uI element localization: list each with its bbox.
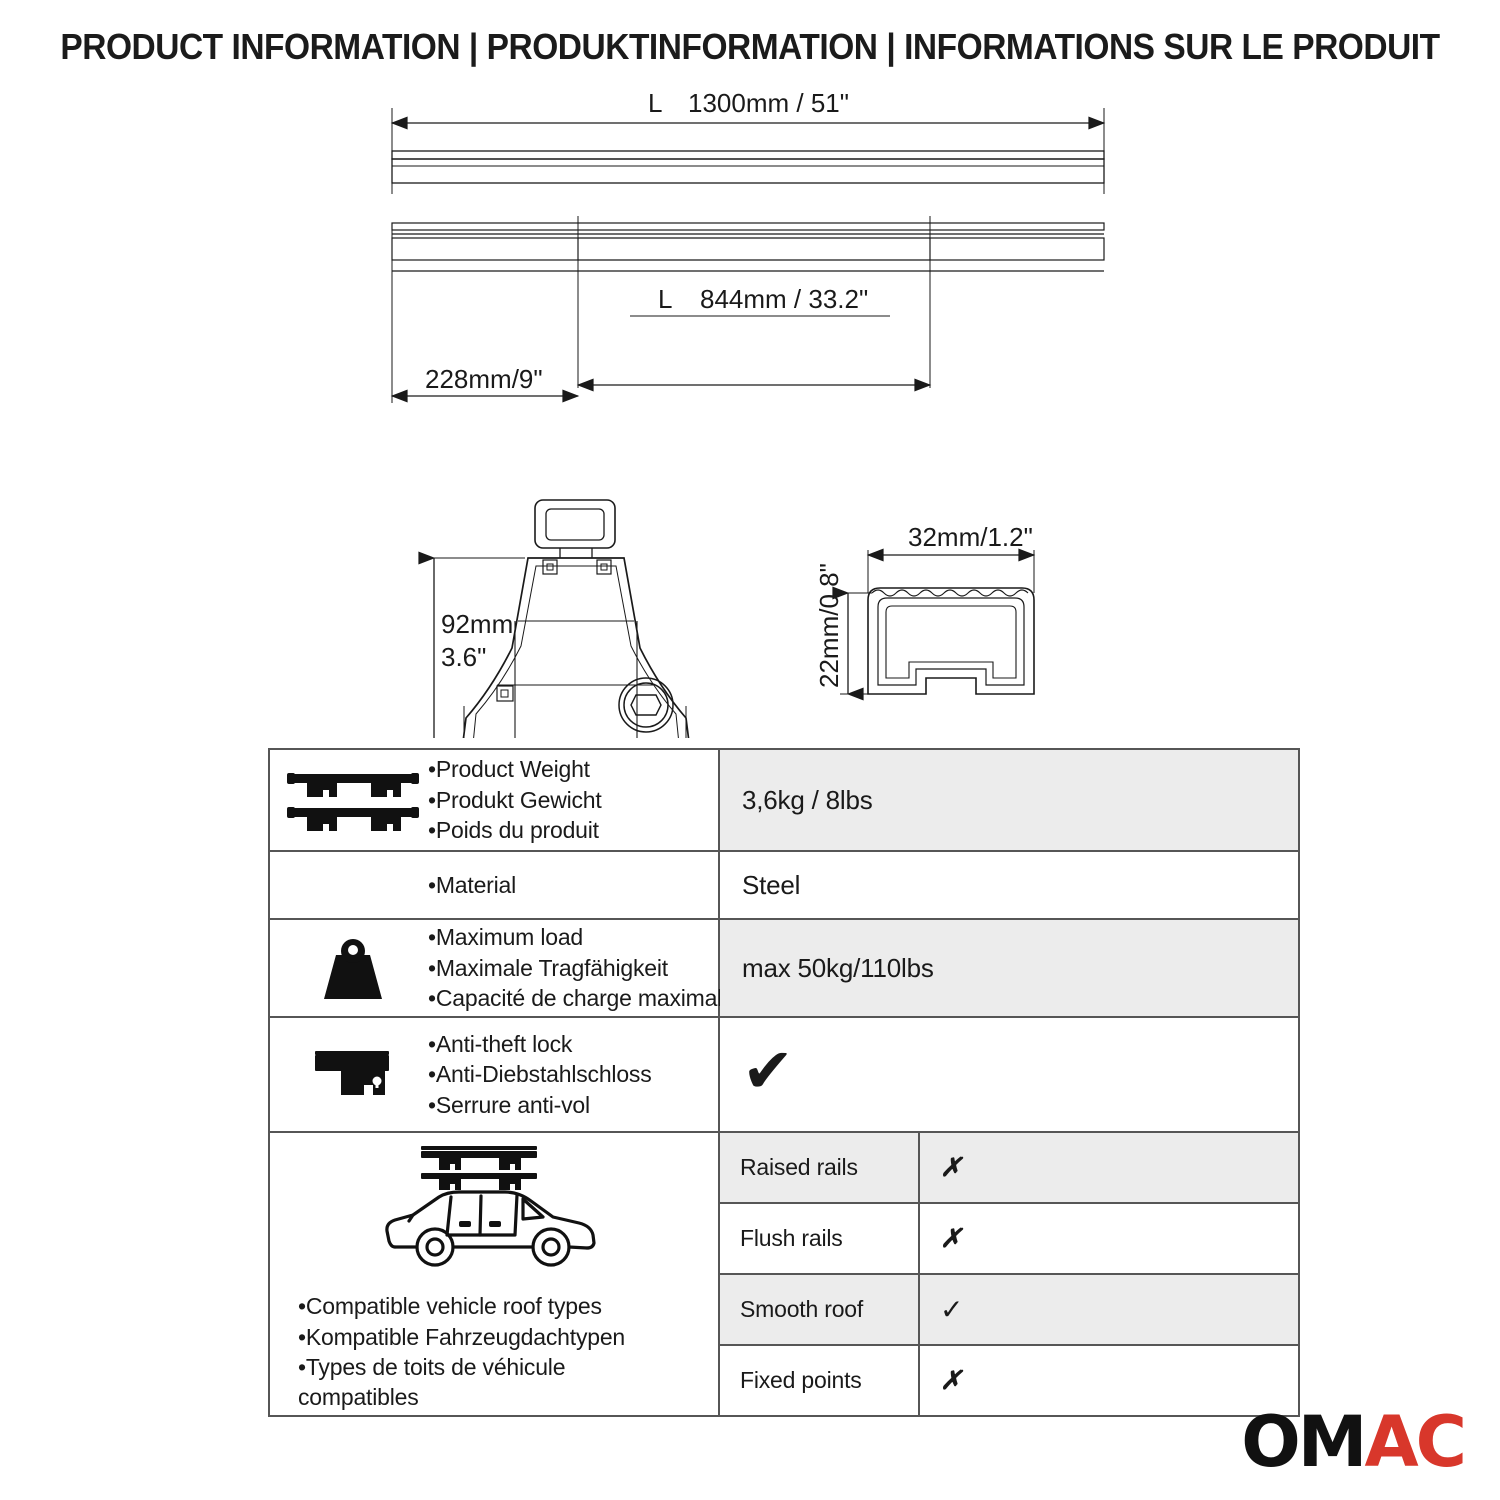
cross-icon: ✗ — [940, 1153, 962, 1183]
spec-label-cell: •Compatible vehicle roof types •Kompatib… — [270, 1133, 720, 1415]
roof-type-label: Raised rails — [720, 1133, 920, 1202]
roof-type-row-raised-rails: Raised rails ✗ — [720, 1133, 1298, 1204]
spec-label-fr: •Serrure anti-vol — [428, 1090, 714, 1120]
weight-icon — [278, 933, 428, 1003]
span-value: 844mm / 33.2" — [700, 284, 868, 314]
roof-type-label: Smooth roof — [720, 1275, 920, 1344]
spec-label-en: •Maximum load — [428, 922, 735, 952]
foot-height-dim-line1: 92mm — [441, 609, 513, 639]
spec-value-material: Steel — [720, 852, 1298, 918]
roof-type-label: Fixed points — [720, 1346, 920, 1415]
roof-types-table: Raised rails ✗ Flush rails ✗ Smooth roof… — [720, 1133, 1298, 1415]
foot-height-dim-line2: 3.6" — [441, 642, 486, 672]
technical-drawing: L 1300mm / 51" 228mm/9" L 844mm / 33.2" … — [0, 88, 1500, 738]
spec-label-en: •Material — [428, 870, 714, 900]
spec-label-de: •Produkt Gewicht — [428, 785, 714, 815]
checkmark-icon: ✔ — [742, 1040, 794, 1102]
table-row: •Material Steel — [270, 852, 1298, 920]
spec-labels: •Maximum load •Maximale Tragfähigkeit •C… — [428, 922, 735, 1013]
spec-label-cell: •Anti-theft lock •Anti-Diebstahlschloss … — [270, 1018, 720, 1131]
spec-value-product-weight: 3,6kg / 8lbs — [720, 750, 1298, 850]
spec-value-anti-theft-lock: ✔ — [720, 1018, 1298, 1131]
table-row: •Maximum load •Maximale Tragfähigkeit •C… — [270, 920, 1298, 1018]
lock-icon — [278, 1043, 428, 1107]
spec-label-fr-cont: compatibles — [298, 1382, 625, 1412]
roof-type-value: ✗ — [920, 1133, 1298, 1202]
cross-icon: ✗ — [940, 1366, 962, 1396]
roof-type-row-smooth-roof: Smooth roof ✓ — [720, 1275, 1298, 1346]
spec-label-de: •Maximale Tragfähigkeit — [428, 953, 735, 983]
spec-label-de: •Kompatible Fahrzeugdachtypen — [298, 1322, 625, 1352]
spec-label-cell: •Maximum load •Maximale Tragfähigkeit •C… — [270, 920, 720, 1016]
crossbars-icon — [278, 764, 428, 836]
page-title: PRODUCT INFORMATION | PRODUKTINFORMATION… — [53, 26, 1448, 68]
table-row: •Anti-theft lock •Anti-Diebstahlschloss … — [270, 1018, 1298, 1133]
car-with-roofrack-icon — [284, 1135, 710, 1285]
roof-type-value: ✗ — [920, 1204, 1298, 1273]
spec-label-fr: •Capacité de charge maximale — [428, 983, 735, 1013]
spec-label-en: •Anti-theft lock — [428, 1029, 714, 1059]
spec-labels: •Compatible vehicle roof types •Kompatib… — [284, 1291, 625, 1412]
profile-height-dim: 22mm/0.8" — [814, 563, 844, 688]
spec-label-en: •Compatible vehicle roof types — [298, 1291, 625, 1321]
logo-text-om: OM — [1241, 1407, 1364, 1477]
checkmark-icon: ✓ — [940, 1293, 963, 1326]
spec-value-maximum-load: max 50kg/110lbs — [720, 920, 1298, 1016]
spec-label-fr: •Poids du produit — [428, 815, 714, 845]
roof-type-row-fixed-points: Fixed points ✗ — [720, 1346, 1298, 1415]
table-row: •Compatible vehicle roof types •Kompatib… — [270, 1133, 1298, 1415]
omac-logo: OMAC — [1241, 1406, 1464, 1478]
profile-width-dim: 32mm/1.2" — [908, 522, 1033, 552]
roof-type-label: Flush rails — [720, 1204, 920, 1273]
spec-label-en: •Product Weight — [428, 754, 714, 784]
span-prefix: L — [658, 284, 672, 314]
bar-length-value: 1300mm / 51" — [688, 88, 849, 118]
roof-type-row-flush-rails: Flush rails ✗ — [720, 1204, 1298, 1275]
table-row: •Product Weight •Produkt Gewicht •Poids … — [270, 750, 1298, 852]
roof-type-value: ✓ — [920, 1275, 1298, 1344]
spec-labels: •Product Weight •Produkt Gewicht •Poids … — [428, 754, 714, 845]
bar-length-prefix: L — [648, 88, 662, 118]
spec-label-cell: •Product Weight •Produkt Gewicht •Poids … — [270, 750, 720, 850]
spec-label-fr: •Types de toits de véhicule — [298, 1352, 625, 1382]
specifications-table: •Product Weight •Produkt Gewicht •Poids … — [268, 748, 1300, 1417]
spec-label-cell: •Material — [270, 852, 720, 918]
cross-icon: ✗ — [940, 1224, 962, 1254]
spec-labels: •Anti-theft lock •Anti-Diebstahlschloss … — [428, 1029, 714, 1120]
spec-labels: •Material — [428, 870, 714, 900]
foot-offset-dim: 228mm/9" — [425, 364, 543, 394]
spec-label-de: •Anti-Diebstahlschloss — [428, 1059, 714, 1089]
logo-text-ac: AC — [1364, 1407, 1464, 1477]
